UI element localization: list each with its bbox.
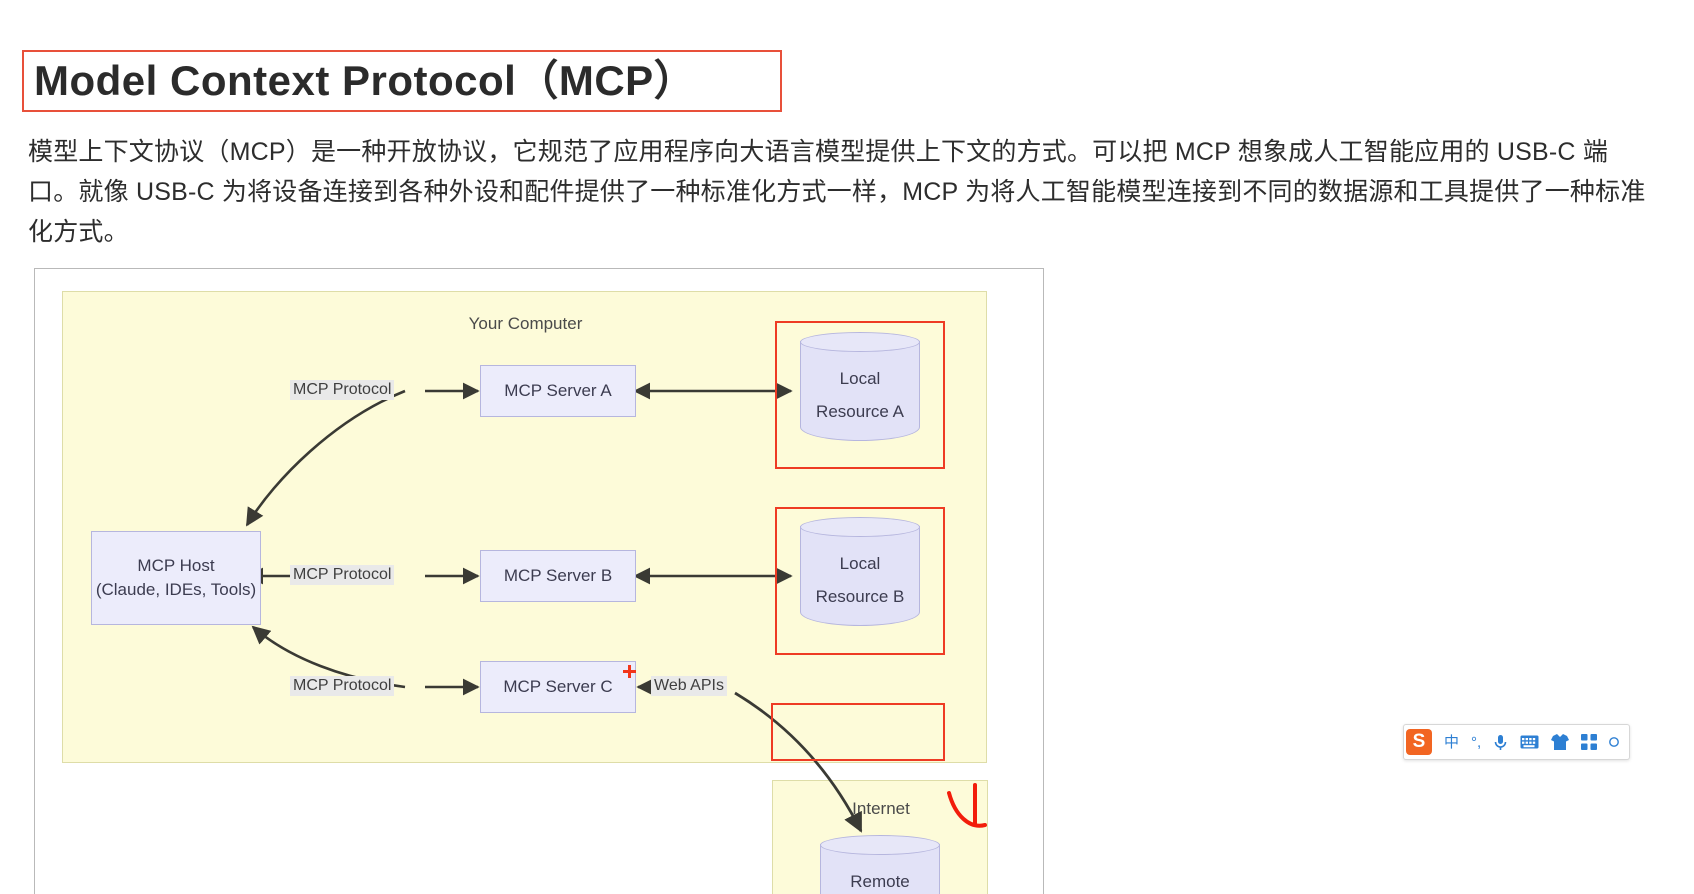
cylinder-top <box>800 332 920 352</box>
ime-overflow-icon[interactable] <box>1603 729 1625 755</box>
node-mcp-server-b-label: MCP Server B <box>504 564 612 588</box>
node-mcp-host-title: MCP Host <box>137 554 214 578</box>
resource-a-line2: Resource A <box>800 395 920 428</box>
intro-paragraph: 模型上下文协议（MCP）是一种开放协议，它规范了应用程序向大语言模型提供上下文的… <box>28 132 1658 252</box>
skin-shirt-icon[interactable] <box>1545 729 1575 755</box>
node-mcp-server-a-label: MCP Server A <box>504 379 611 403</box>
region-internet-label: Internet <box>773 799 989 819</box>
punctuation-mode-icon[interactable]: °, <box>1465 729 1487 755</box>
soft-keyboard-icon[interactable] <box>1514 729 1545 755</box>
node-local-resource-a-label: Local Resource A <box>800 362 920 428</box>
resource-a-line1: Local <box>800 362 920 395</box>
page-root: Model Context Protocol（MCP） 模型上下文协议（MCP）… <box>0 0 1694 894</box>
node-local-resource-b[interactable]: Local Resource B <box>800 517 920 635</box>
resource-b-line1: Local <box>800 547 920 580</box>
node-remote-service-label: Remote Service <box>820 865 940 894</box>
crosshair-cursor-marker <box>623 665 636 678</box>
toolbox-grid-icon[interactable] <box>1575 729 1603 755</box>
node-mcp-host-subtitle: (Claude, IDEs, Tools) <box>96 578 256 602</box>
node-local-resource-b-label: Local Resource B <box>800 547 920 613</box>
sogou-logo-icon[interactable]: S <box>1406 729 1432 755</box>
ime-toolbar[interactable]: S 中 °, <box>1403 724 1630 760</box>
language-mode-icon[interactable]: 中 <box>1438 729 1465 755</box>
edge-label-mcp-protocol-c: MCP Protocol <box>290 676 394 696</box>
edge-label-mcp-protocol-b: MCP Protocol <box>290 565 394 585</box>
resource-b-line2: Resource B <box>800 580 920 613</box>
node-mcp-host[interactable]: MCP Host (Claude, IDEs, Tools) <box>91 531 261 625</box>
voice-input-icon[interactable] <box>1487 729 1514 755</box>
page-title-highlight-box: Model Context Protocol（MCP） <box>22 50 782 112</box>
edge-label-web-apis: Web APIs <box>651 676 727 696</box>
page-title: Model Context Protocol（MCP） <box>24 60 696 102</box>
cylinder-top <box>820 835 940 855</box>
node-local-resource-a[interactable]: Local Resource A <box>800 332 920 450</box>
node-mcp-server-b[interactable]: MCP Server B <box>480 550 636 602</box>
node-remote-service[interactable]: Remote Service <box>820 835 940 894</box>
annotation-box-internet-edge <box>771 703 945 761</box>
cylinder-top <box>800 517 920 537</box>
remote-service-line1: Remote <box>820 865 940 894</box>
node-mcp-server-c-label: MCP Server C <box>503 675 612 699</box>
node-mcp-server-c[interactable]: MCP Server C <box>480 661 636 713</box>
node-mcp-server-a[interactable]: MCP Server A <box>480 365 636 417</box>
edge-label-mcp-protocol-a: MCP Protocol <box>290 380 394 400</box>
mcp-architecture-diagram: Your Computer Internet <box>34 268 1044 894</box>
